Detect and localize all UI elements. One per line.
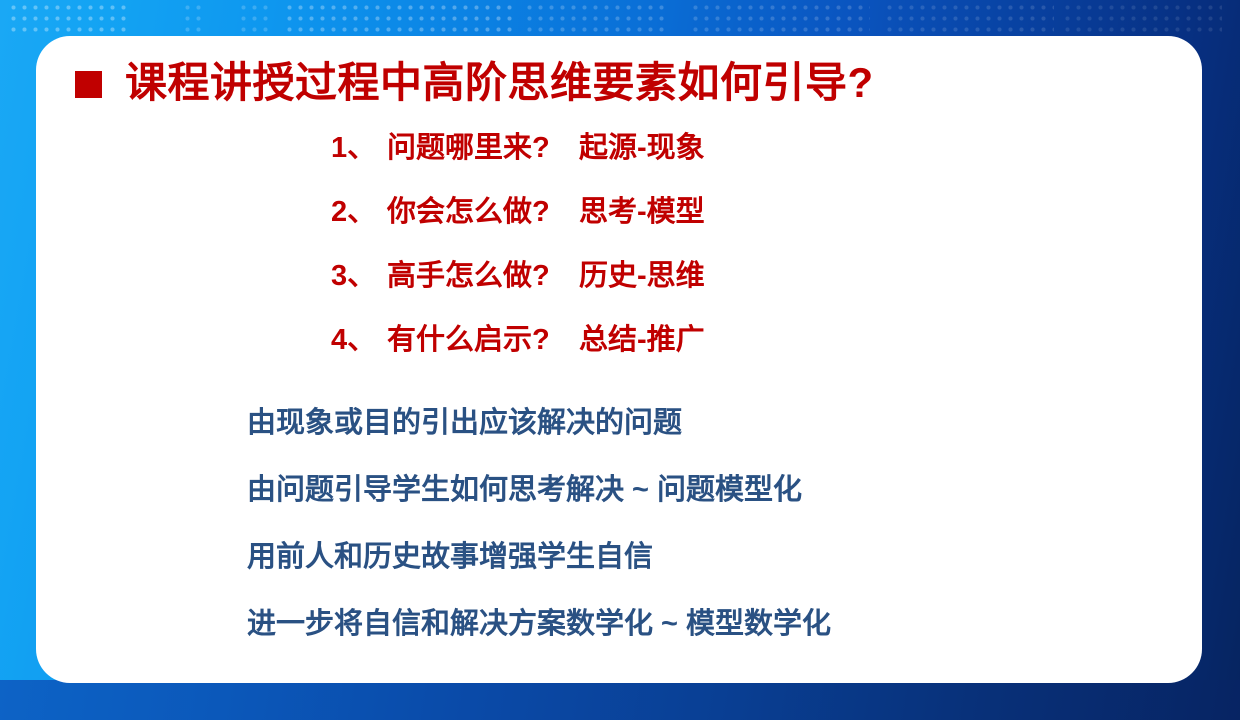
list-item: 4、 有什么启示? 总结-推广 bbox=[331, 326, 705, 355]
list-item-number: 2、 bbox=[331, 198, 387, 227]
list-item-tag: 起源-现象 bbox=[579, 134, 705, 163]
list-item-number: 3、 bbox=[331, 262, 387, 291]
list-item-question: 问题哪里来? bbox=[387, 134, 579, 163]
list-item: 由问题引导学生如何思考解决 ~ 问题模型化 bbox=[247, 476, 831, 505]
list-item-question: 你会怎么做? bbox=[387, 198, 579, 227]
numbered-question-list: 1、 问题哪里来? 起源-现象 2、 你会怎么做? 思考-模型 3、 高手怎么做… bbox=[331, 134, 705, 390]
slide-title-row: 课程讲授过程中高阶思维要素如何引导? bbox=[75, 62, 874, 104]
slide-canvas: 课程讲授过程中高阶思维要素如何引导? 1、 问题哪里来? 起源-现象 2、 你会… bbox=[0, 0, 1240, 720]
list-item-tag: 历史-思维 bbox=[579, 262, 705, 291]
page-title: 课程讲授过程中高阶思维要素如何引导? bbox=[125, 62, 874, 104]
list-item-question: 有什么启示? bbox=[387, 326, 579, 355]
content-card: 课程讲授过程中高阶思维要素如何引导? 1、 问题哪里来? 起源-现象 2、 你会… bbox=[36, 36, 1202, 683]
list-item-question: 高手怎么做? bbox=[387, 262, 579, 291]
list-item: 3、 高手怎么做? 历史-思维 bbox=[331, 262, 705, 291]
background-bottom-band bbox=[0, 680, 1240, 720]
list-item-number: 4、 bbox=[331, 326, 387, 355]
list-item-number: 1、 bbox=[331, 134, 387, 163]
list-item: 2、 你会怎么做? 思考-模型 bbox=[331, 198, 705, 227]
list-item: 1、 问题哪里来? 起源-现象 bbox=[331, 134, 705, 163]
explanation-list: 由现象或目的引出应该解决的问题 由问题引导学生如何思考解决 ~ 问题模型化 用前… bbox=[247, 409, 831, 639]
square-bullet-icon bbox=[75, 71, 102, 98]
list-item: 进一步将自信和解决方案数学化 ~ 模型数学化 bbox=[247, 610, 831, 639]
list-item-tag: 总结-推广 bbox=[579, 326, 705, 355]
list-item-tag: 思考-模型 bbox=[579, 198, 705, 227]
list-item: 用前人和历史故事增强学生自信 bbox=[247, 543, 831, 572]
list-item: 由现象或目的引出应该解决的问题 bbox=[247, 409, 831, 438]
